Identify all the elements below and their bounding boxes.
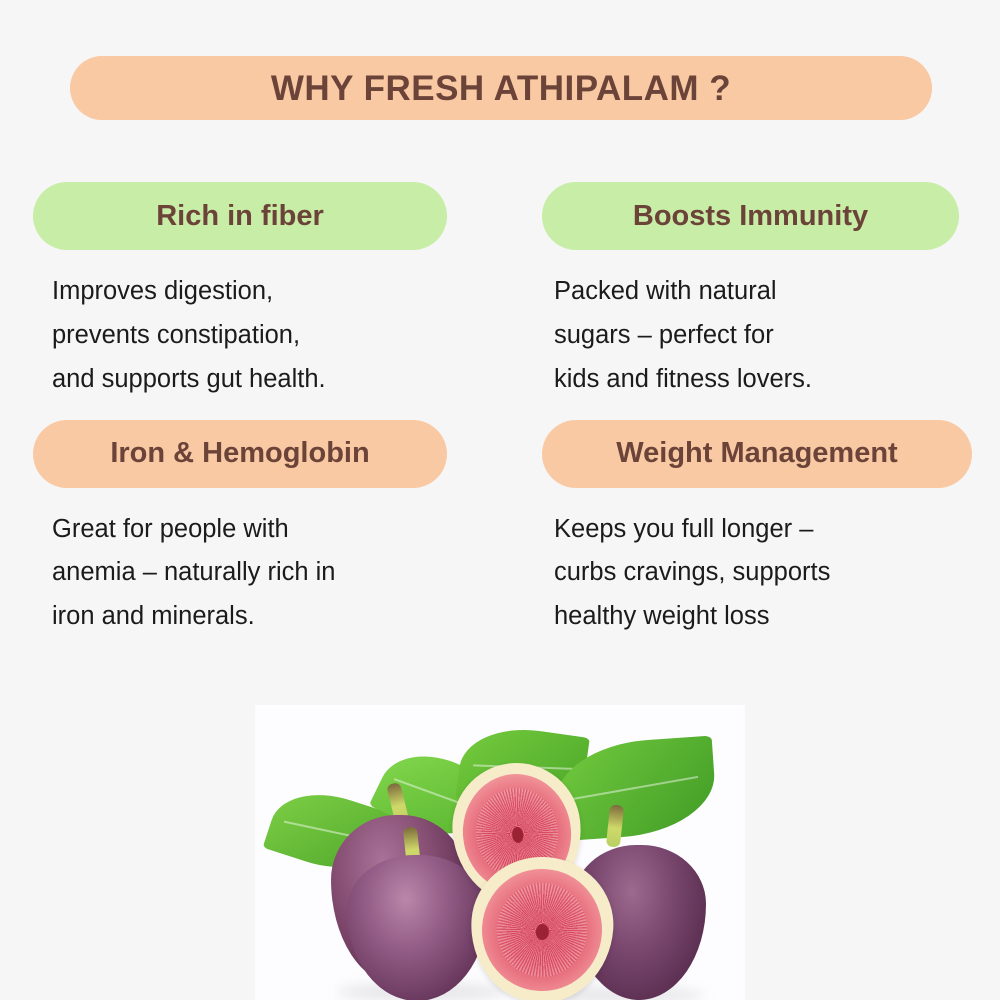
benefit-description-weight-management: Keeps you full longer – curbs cravings, …: [542, 508, 972, 640]
benefit-card-iron-hemoglobin: Iron & Hemoglobin Great for people with …: [0, 420, 520, 640]
benefit-description-boosts-immunity: Packed with natural sugars – perfect for…: [542, 270, 972, 402]
benefit-title-rich-in-fiber: Rich in fiber: [156, 202, 324, 231]
benefit-card-boosts-immunity: Boosts Immunity Packed with natural suga…: [520, 182, 1000, 402]
infographic-page: WHY FRESH ATHIPALAM ? Rich in fiber Impr…: [0, 0, 1000, 1000]
fig-whole-front-left: [347, 855, 487, 1000]
benefit-title-weight-management: Weight Management: [616, 439, 897, 468]
header-banner: WHY FRESH ATHIPALAM ?: [70, 56, 932, 120]
benefit-pill-rich-in-fiber: Rich in fiber: [33, 182, 447, 250]
benefit-description-iron-hemoglobin: Great for people with anemia – naturally…: [33, 508, 480, 640]
leaf-vein: [572, 775, 698, 799]
benefit-card-weight-management: Weight Management Keeps you full longer …: [520, 420, 1000, 640]
benefit-pill-weight-management: Weight Management: [542, 420, 972, 488]
page-title: WHY FRESH ATHIPALAM ?: [271, 71, 731, 106]
benefit-card-rich-in-fiber: Rich in fiber Improves digestion, preven…: [0, 182, 520, 402]
benefit-pill-boosts-immunity: Boosts Immunity: [542, 182, 959, 250]
benefit-title-iron-hemoglobin: Iron & Hemoglobin: [110, 439, 369, 468]
fig-product-photo: [255, 705, 745, 1000]
fig-illustration: [255, 705, 745, 1000]
benefits-row-2: Iron & Hemoglobin Great for people with …: [0, 420, 1000, 640]
benefit-pill-iron-hemoglobin: Iron & Hemoglobin: [33, 420, 447, 488]
benefits-grid: Rich in fiber Improves digestion, preven…: [0, 182, 1000, 639]
benefit-title-boosts-immunity: Boosts Immunity: [633, 202, 868, 231]
benefits-row-1: Rich in fiber Improves digestion, preven…: [0, 182, 1000, 402]
benefit-description-rich-in-fiber: Improves digestion, prevents constipatio…: [33, 270, 480, 402]
fig-stem-right: [606, 804, 624, 847]
